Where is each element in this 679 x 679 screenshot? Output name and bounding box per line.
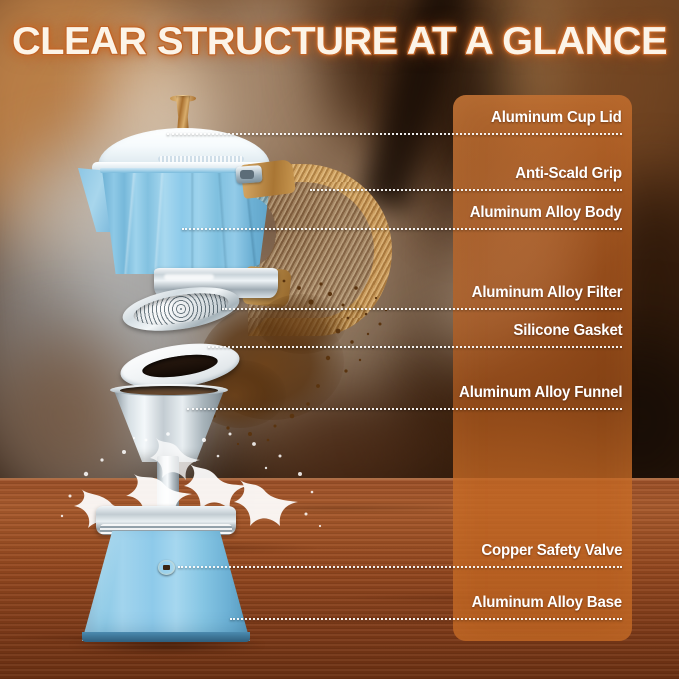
page-title: CLEAR STRUCTURE AT A GLANCE [0, 20, 679, 64]
callout-label-body: Aluminum Alloy Body [470, 204, 622, 222]
callout-label-funnel: Aluminum Alloy Funnel [459, 384, 622, 402]
callout-label-gasket: Silicone Gasket [513, 322, 622, 340]
callout-label-cup-lid: Aluminum Cup Lid [491, 109, 622, 127]
leader-line-body [182, 228, 622, 230]
moka-pot-upper-chamber [70, 96, 370, 286]
leader-line-cup-lid [167, 133, 622, 135]
leader-line-funnel [187, 408, 622, 410]
callout-label-base: Aluminum Alloy Base [472, 594, 622, 612]
callout-label-filter: Aluminum Alloy Filter [471, 284, 622, 302]
ring-highlight [164, 274, 214, 280]
handle-clip-pin [240, 170, 254, 179]
base-foot [82, 632, 250, 642]
callout-label-grip: Anti-Scald Grip [515, 165, 622, 183]
valve-core [163, 565, 170, 570]
leader-line-gasket [208, 346, 622, 348]
callout-label-safety-valve: Copper Safety Valve [481, 542, 622, 560]
infographic-canvas: CLEAR STRUCTURE AT A GLANCE [0, 0, 679, 679]
funnel-coffee-bed [120, 386, 218, 395]
leader-line-safety-valve [178, 566, 622, 568]
leader-line-grip [310, 189, 622, 191]
leader-line-base [230, 618, 622, 620]
leader-line-filter [222, 308, 622, 310]
